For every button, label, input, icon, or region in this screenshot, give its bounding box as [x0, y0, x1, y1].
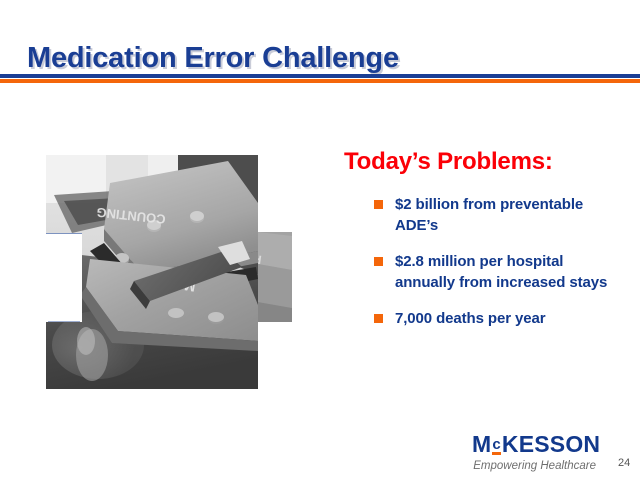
bullet-list: $2 billion from preventable ADE’s $2.8 m… — [374, 194, 624, 344]
notch-bottom-line — [48, 321, 80, 322]
logo-tagline: Empowering Healthcare — [472, 460, 618, 472]
title-rule-blue — [0, 74, 640, 78]
list-item-label: 7,000 deaths per year — [395, 308, 546, 329]
notch-top-line — [46, 233, 82, 234]
list-item: $2 billion from preventable ADE’s — [374, 194, 624, 236]
logo-wordmark: McKESSON — [472, 432, 618, 457]
page-number: 24 — [618, 457, 630, 469]
svg-text:PH: PH — [258, 251, 262, 267]
square-bullet-icon — [374, 200, 383, 209]
list-item-label: $2 billion from preventable ADE’s — [395, 194, 624, 236]
photo-right-extension: PH — [258, 232, 292, 322]
list-item-label: $2.8 million per hospital annually from … — [395, 251, 624, 293]
square-bullet-icon — [374, 314, 383, 323]
page-title: Medication Error Challenge — [27, 41, 399, 75]
pill-counting-tray-photo: COUNTING MACY — [46, 155, 292, 389]
slide: Medication Error Challenge — [0, 0, 640, 480]
logo-word-part2: KESSON — [502, 431, 600, 457]
photo-notch-cutout — [46, 233, 82, 322]
logo-superscript-c: c — [491, 436, 502, 453]
square-bullet-icon — [374, 257, 383, 266]
content-heading: Today’s Problems: — [344, 148, 553, 176]
logo-word-part1: M — [472, 431, 491, 457]
mckesson-logo: McKESSON Empowering Healthcare — [472, 432, 618, 472]
list-item: $2.8 million per hospital annually from … — [374, 251, 624, 293]
title-rule-orange — [0, 79, 640, 83]
list-item: 7,000 deaths per year — [374, 308, 624, 329]
photo-extension-image: PH — [258, 232, 292, 322]
